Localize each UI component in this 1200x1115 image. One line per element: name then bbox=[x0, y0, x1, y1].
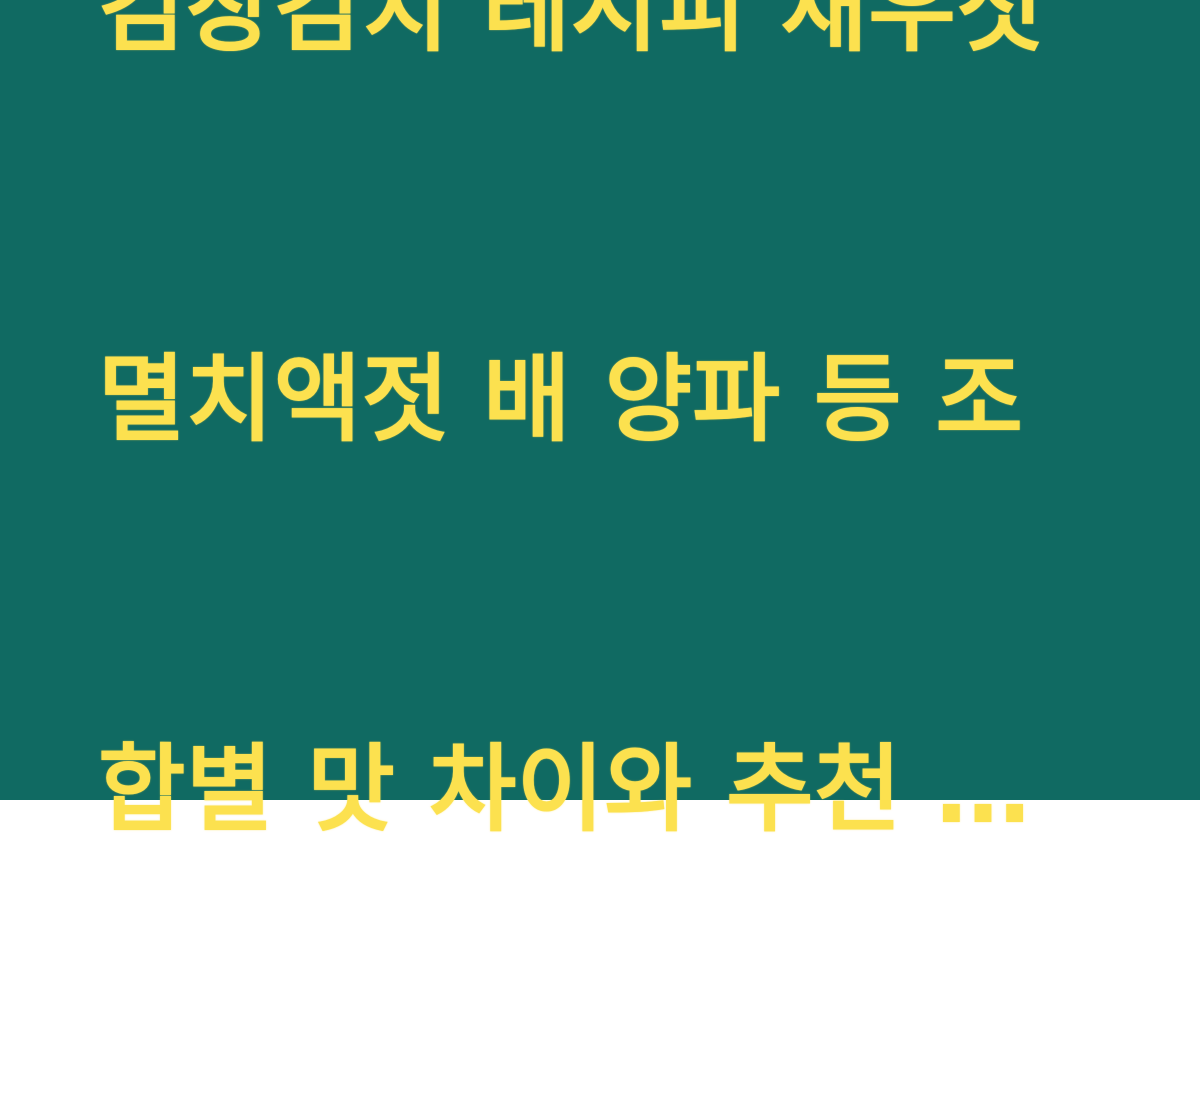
headline-line-3: 합별 맛 차이와 추천 … bbox=[98, 725, 1044, 855]
headline: 김장김치 레시피 새우젓 멸치액젓 배 양파 등 조 합별 맛 차이와 추천 … bbox=[98, 0, 1044, 1115]
text-card: 김장김치 레시피 새우젓 멸치액젓 배 양파 등 조 합별 맛 차이와 추천 … bbox=[0, 0, 1200, 800]
headline-line-1: 김장김치 레시피 새우젓 bbox=[98, 0, 1044, 75]
headline-line-2: 멸치액젓 배 양파 등 조 bbox=[98, 335, 1044, 465]
